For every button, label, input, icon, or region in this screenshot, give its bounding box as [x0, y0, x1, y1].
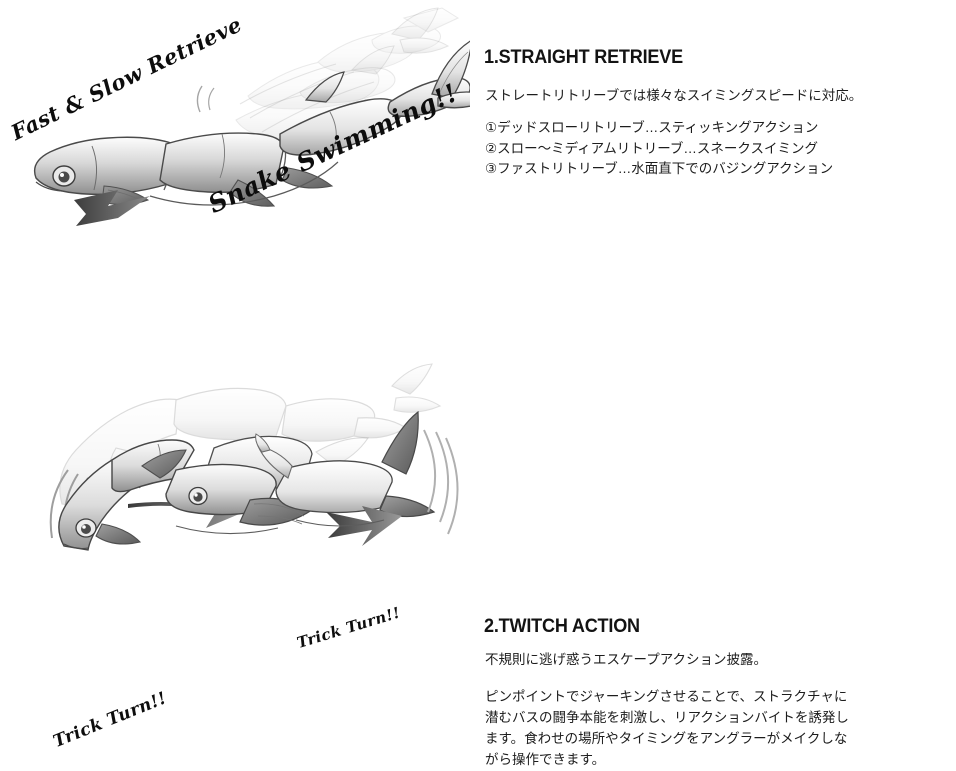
motion-flick-marks	[197, 86, 214, 112]
instruction-page: Fast & Slow Retrieve Snake Swimming!! 1.…	[0, 0, 956, 563]
list-item: ②スロー〜ミディアムリトリーブ…スネークスイミング	[485, 139, 833, 160]
page-title-twitch-action: 2.TWITCH ACTION	[484, 616, 640, 638]
swimbait-straight-retrieve-illustration	[0, 0, 470, 282]
swimbait-straight-retrieve-svg	[0, 0, 470, 282]
twitch-action-lead-text: 不規則に逃げ惑うエスケープアクション披露。	[485, 650, 767, 670]
list-item: ①デッドスローリトリーブ…スティッキングアクション	[485, 118, 833, 139]
swimbait-twitch-action-svg	[0, 282, 470, 563]
section-straight-retrieve: Fast & Slow Retrieve Snake Swimming!! 1.…	[0, 0, 956, 282]
swimbait-twitch-action-illustration	[0, 282, 470, 563]
section-twitch-action: Trick Turn!! Trick Turn!! 2.TWITCH ACTIO…	[0, 282, 956, 563]
straight-retrieve-lead-text: ストレートリトリーブでは様々なスイミングスピードに対応。	[485, 86, 862, 106]
lure-lower-right-segment	[276, 461, 392, 513]
trick-turn-label-lower: Trick Turn!!	[51, 688, 170, 752]
trick-turn-label-upper: Trick Turn!!	[295, 603, 403, 652]
list-item: ③ファストリトリーブ…水面直下でのバジングアクション	[485, 159, 833, 180]
straight-retrieve-list: ①デッドスローリトリーブ…スティッキングアクション ②スロー〜ミディアムリトリー…	[485, 118, 833, 180]
motion-arcs-lower	[424, 430, 458, 534]
twitch-action-paragraph: ピンポイントでジャーキングさせることで、ストラクチャに潜むバスの闘争本能を刺激し…	[485, 687, 857, 771]
page-title-straight-retrieve: 1.STRAIGHT RETRIEVE	[484, 47, 683, 69]
